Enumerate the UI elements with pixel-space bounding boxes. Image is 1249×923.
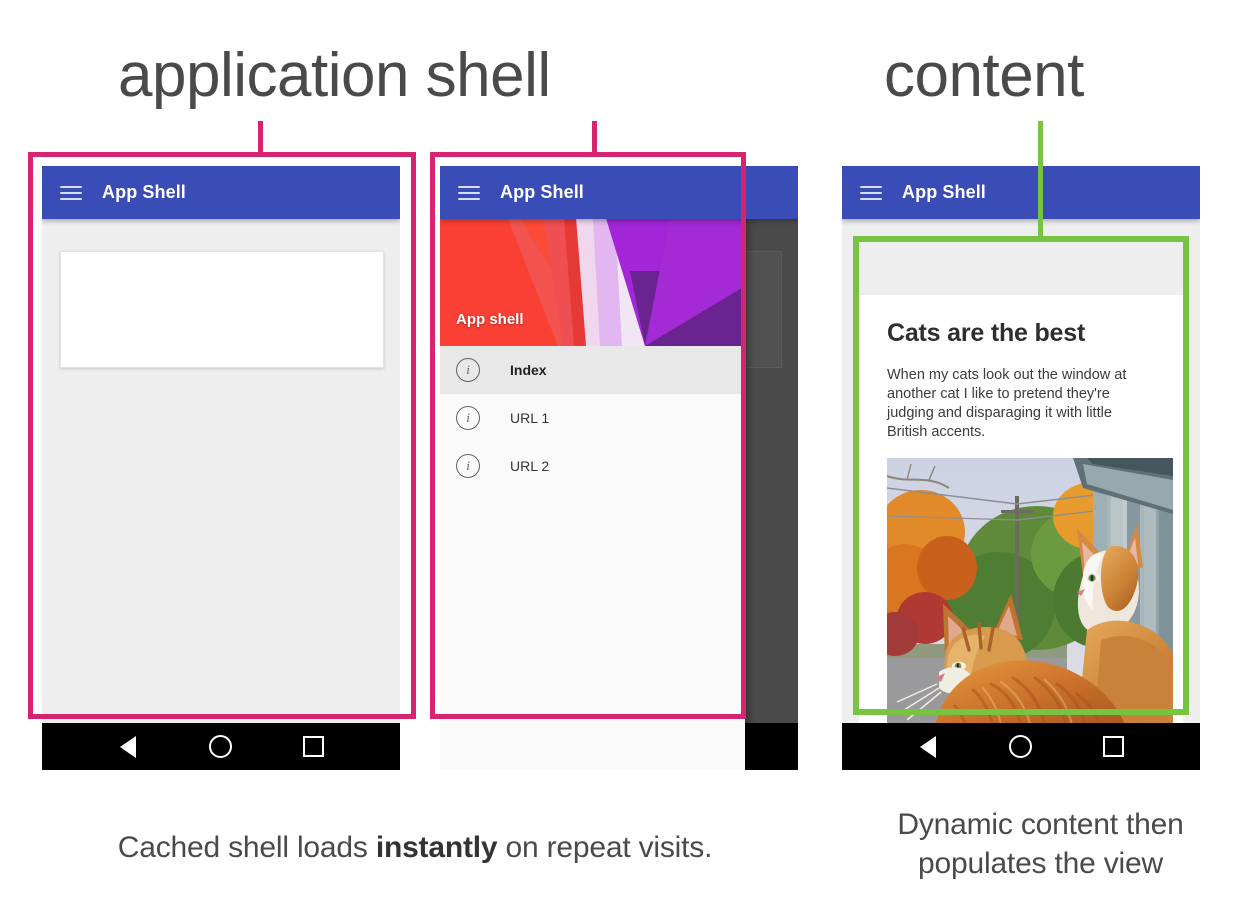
caption-content: Dynamic content then populates the view bbox=[832, 805, 1249, 883]
appbar-title: App Shell bbox=[500, 182, 584, 203]
drawer-item-index[interactable]: i Index bbox=[440, 346, 745, 394]
drawer-list: i Index i URL 1 i URL 2 bbox=[440, 346, 745, 490]
back-icon[interactable] bbox=[908, 727, 948, 767]
hamburger-icon[interactable] bbox=[458, 186, 480, 200]
phone-mock-shell-empty: App Shell bbox=[42, 166, 400, 770]
caption-shell: Cached shell loads instantly on repeat v… bbox=[0, 828, 830, 867]
android-navbar bbox=[42, 723, 400, 770]
hamburger-icon[interactable] bbox=[860, 186, 882, 200]
connector-line-shell-right bbox=[592, 121, 597, 155]
caption-shell-prefix: Cached shell loads bbox=[118, 831, 376, 864]
article-photo-cats bbox=[887, 458, 1173, 748]
appbar-shell-empty: App Shell bbox=[42, 166, 400, 219]
drawer-item-url-2[interactable]: i URL 2 bbox=[440, 442, 745, 490]
info-icon: i bbox=[456, 358, 480, 382]
article-title: Cats are the best bbox=[887, 319, 1155, 348]
drawer-header-title: App shell bbox=[456, 311, 524, 328]
hamburger-icon[interactable] bbox=[60, 186, 82, 200]
info-icon: i bbox=[456, 454, 480, 478]
android-navbar bbox=[842, 723, 1200, 770]
appbar-title: App Shell bbox=[902, 182, 986, 203]
back-icon[interactable] bbox=[108, 727, 148, 767]
screen-body-content: Cats are the best When my cats look out … bbox=[842, 219, 1200, 770]
article-body: When my cats look out the window at anot… bbox=[887, 366, 1155, 442]
connector-line-shell-left bbox=[258, 121, 263, 155]
info-icon: i bbox=[456, 406, 480, 430]
annotation-label-application-shell: application shell bbox=[118, 40, 551, 112]
drawer-item-label: URL 2 bbox=[510, 458, 549, 474]
appbar-shell-drawer: App Shell bbox=[440, 166, 798, 219]
screen-body-shell-empty bbox=[42, 219, 400, 770]
phone-mock-shell-drawer: App Shell bbox=[440, 166, 798, 770]
appbar-title: App Shell bbox=[102, 182, 186, 203]
home-icon[interactable] bbox=[201, 727, 241, 767]
drawer-item-label: URL 1 bbox=[510, 410, 549, 426]
caption-content-line-2: populates the view bbox=[832, 844, 1249, 883]
article-card: Cats are the best When my cats look out … bbox=[859, 295, 1183, 764]
home-icon[interactable] bbox=[1001, 727, 1041, 767]
recents-icon[interactable] bbox=[1094, 727, 1134, 767]
phone-mock-content: App Shell Cats are the best When my cats… bbox=[842, 166, 1200, 770]
placeholder-content-card bbox=[60, 251, 384, 368]
annotation-label-content: content bbox=[884, 40, 1084, 112]
recents-icon[interactable] bbox=[294, 727, 334, 767]
drawer-item-url-1[interactable]: i URL 1 bbox=[440, 394, 745, 442]
navigation-drawer: App shell i Index i URL 1 i URL 2 bbox=[440, 166, 745, 770]
appbar-content: App Shell bbox=[842, 166, 1200, 219]
caption-shell-emphasis: instantly bbox=[376, 831, 498, 864]
drawer-item-label: Index bbox=[510, 362, 547, 378]
caption-shell-suffix: on repeat visits. bbox=[497, 831, 712, 864]
connector-line-content bbox=[1038, 121, 1043, 241]
caption-content-line-1: Dynamic content then bbox=[832, 805, 1249, 844]
screen-body-shell-drawer: App shell i Index i URL 1 i URL 2 bbox=[440, 219, 798, 770]
